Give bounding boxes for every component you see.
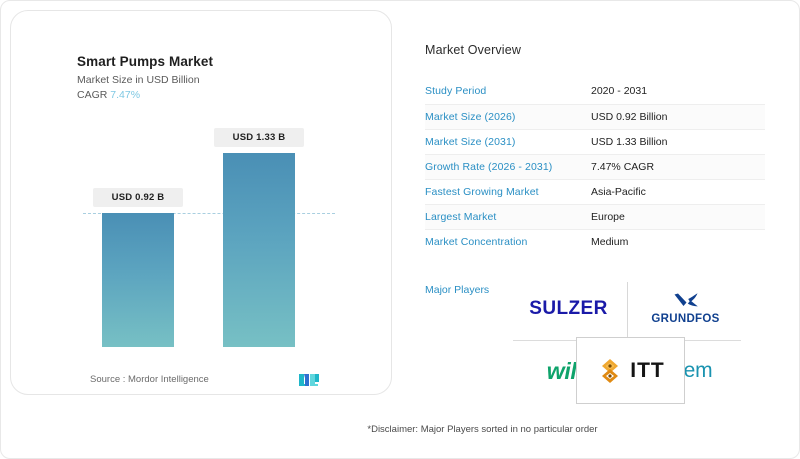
market-overview-table: Study Period 2020 - 2031 Market Size (20…: [425, 79, 765, 254]
cagr-value: 7.47%: [110, 89, 140, 101]
player-cell-itt: ITT: [576, 337, 685, 404]
row-key: Growth Rate (2026 - 2031): [425, 154, 591, 179]
table-row: Market Size (2031) USD 1.33 Billion: [425, 129, 765, 154]
row-key: Study Period: [425, 79, 591, 104]
sulzer-logo-icon: SULZER: [529, 298, 607, 320]
overview-title: Market Overview: [425, 43, 765, 57]
row-value: 2020 - 2031: [591, 79, 765, 104]
infographic-page: Smart Pumps Market Market Size in USD Bi…: [0, 0, 800, 459]
row-value: USD 1.33 Billion: [591, 129, 765, 154]
market-overview-panel: Market Overview Study Period 2020 - 2031…: [425, 43, 765, 254]
row-key: Market Size (2026): [425, 104, 591, 129]
bar-2031[interactable]: [223, 153, 295, 347]
table-row: Study Period 2020 - 2031: [425, 79, 765, 104]
row-value: USD 0.92 Billion: [591, 104, 765, 129]
chart-header: Smart Pumps Market Market Size in USD Bi…: [77, 54, 367, 101]
itt-logo-text: ITT: [630, 359, 665, 383]
source-text: Source : Mordor Intelligence: [90, 374, 209, 385]
table-row: Largest Market Europe: [425, 204, 765, 229]
table-row: Growth Rate (2026 - 2031) 7.47% CAGR: [425, 154, 765, 179]
row-value: Europe: [591, 204, 765, 229]
cagr-line: CAGR 7.47%: [77, 89, 367, 101]
bar-value-label: USD 0.92 B: [93, 188, 183, 207]
bar-2026[interactable]: [102, 213, 174, 347]
chart-card: Smart Pumps Market Market Size in USD Bi…: [10, 10, 392, 395]
row-value: Medium: [591, 229, 765, 254]
row-key: Largest Market: [425, 204, 591, 229]
bar-chart-plot: USD 0.92 B 2026 USD 1.33 B 2031: [83, 129, 323, 347]
table-row: Fastest Growing Market Asia-Pacific: [425, 179, 765, 204]
source-row: Source : Mordor Intelligence: [90, 372, 320, 387]
major-players-label: Major Players: [425, 284, 489, 296]
mordor-intelligence-logo-icon: [298, 372, 320, 387]
grundfos-logo-text: GRUNDFOS: [651, 313, 719, 325]
grundfos-logo-icon: GRUNDFOS: [651, 292, 719, 326]
disclaimer: *Disclaimer: Major Players sorted in no …: [1, 424, 799, 435]
disclaimer-text: *Disclaimer: Major Players sorted in no …: [202, 424, 597, 435]
row-key: Market Size (2031): [425, 129, 591, 154]
player-cell-grundfos: GRUNDFOS: [627, 278, 744, 340]
table-row: Market Concentration Medium: [425, 229, 765, 254]
cagr-label: CAGR: [77, 89, 107, 101]
row-key: Market Concentration: [425, 229, 591, 254]
player-cell-sulzer: SULZER: [510, 278, 627, 340]
itt-logo-mark-icon: [596, 357, 624, 385]
row-value: Asia-Pacific: [591, 179, 765, 204]
chart-subtitle: Market Size in USD Billion: [77, 74, 367, 86]
bar-value-label: USD 1.33 B: [214, 128, 304, 147]
row-key: Fastest Growing Market: [425, 179, 591, 204]
row-value: 7.47% CAGR: [591, 154, 765, 179]
chart-title: Smart Pumps Market: [77, 54, 367, 69]
table-row: Market Size (2026) USD 0.92 Billion: [425, 104, 765, 129]
